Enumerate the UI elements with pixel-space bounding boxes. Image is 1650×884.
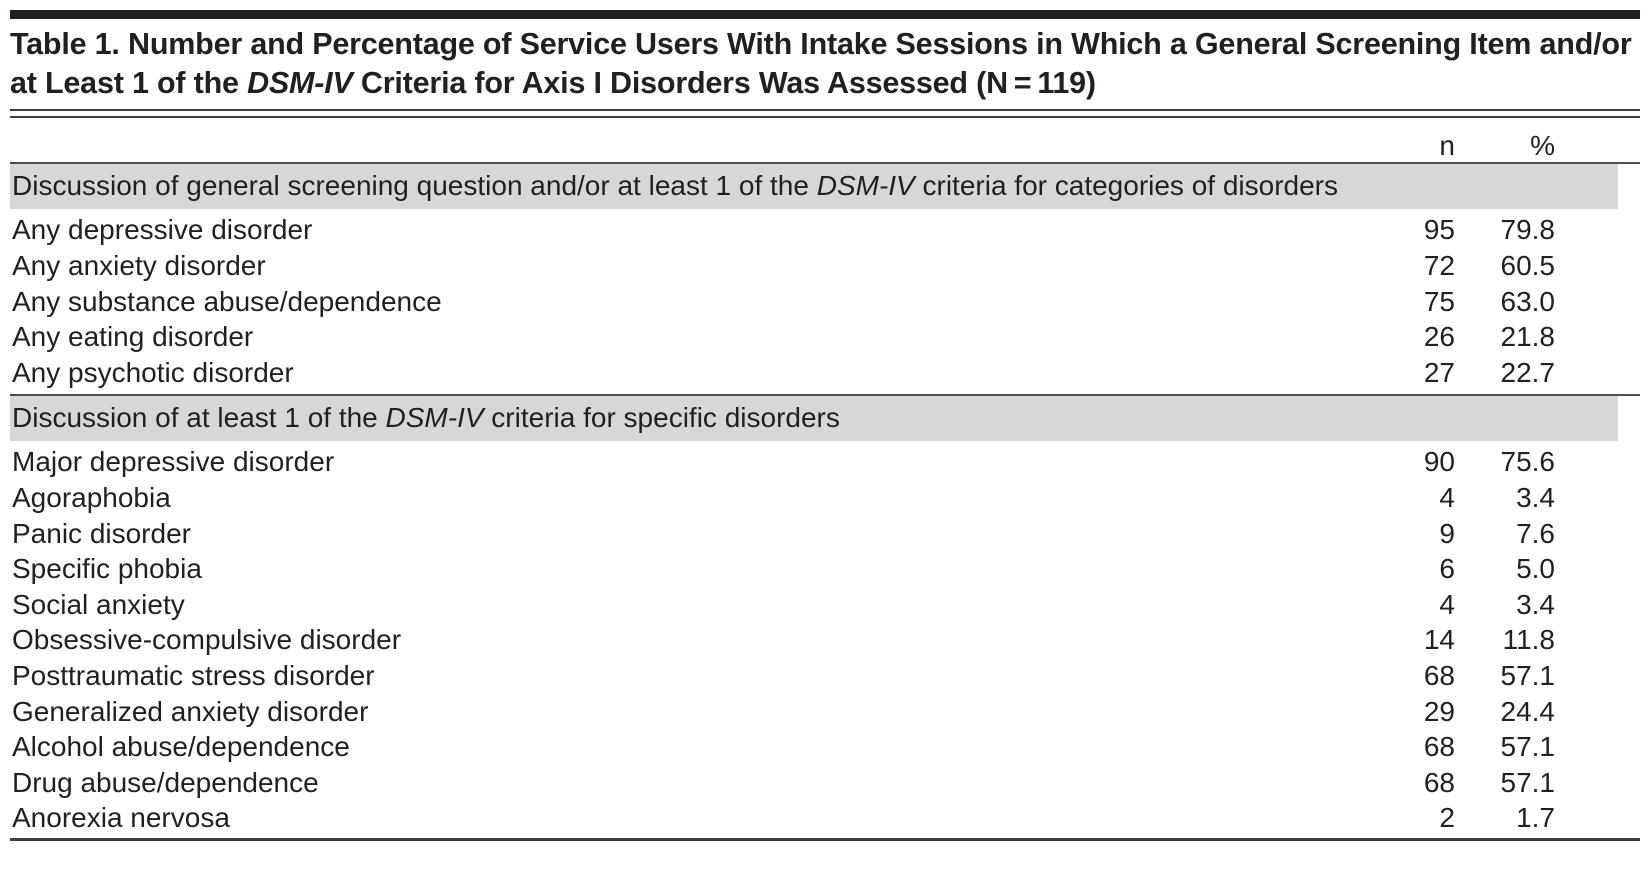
table-caption: Table 1. Number and Percentage of Servic… [10,19,1640,107]
table-caption-rule [10,109,1640,118]
row-n: 4 [1337,587,1455,623]
table-top-rule [10,10,1640,19]
row-n: 75 [1337,284,1455,320]
table-row: Drug abuse/dependence 68 57.1 [10,765,1640,801]
table-row: Any substance abuse/dependence 75 63.0 [10,284,1640,320]
row-n: 4 [1337,480,1455,516]
row-label: Anorexia nervosa [10,800,1337,836]
row-percent: 1.7 [1455,800,1555,836]
row-n: 26 [1337,319,1455,355]
table-row: Specific phobia 6 5.0 [10,551,1640,587]
table-row: Any psychotic disorder 27 22.7 [10,355,1640,391]
table-row: Posttraumatic stress disorder 68 57.1 [10,658,1640,694]
table-row: Major depressive disorder 90 75.6 [10,444,1640,480]
row-n: 68 [1337,765,1455,801]
row-label: Drug abuse/dependence [10,765,1337,801]
row-percent: 57.1 [1455,765,1555,801]
row-label: Major depressive disorder [10,444,1337,480]
row-percent: 57.1 [1455,729,1555,765]
section-1-dsm-italic: DSM-IV [817,170,915,201]
row-percent: 3.4 [1455,480,1555,516]
row-percent: 24.4 [1455,694,1555,730]
row-label: Obsessive-compulsive disorder [10,622,1337,658]
table-row: Agoraphobia 4 3.4 [10,480,1640,516]
row-label: Any eating disorder [10,319,1337,355]
section-1-text-a: Discussion of general screening question… [12,170,817,201]
row-label: Social anxiety [10,587,1337,623]
row-percent: 5.0 [1455,551,1555,587]
column-header-percent: % [1455,130,1555,162]
row-n: 14 [1337,622,1455,658]
table-row: Generalized anxiety disorder 29 24.4 [10,694,1640,730]
row-percent: 60.5 [1455,248,1555,284]
table-caption-dsm-italic: DSM-IV [247,66,353,100]
table-1: Table 1. Number and Percentage of Servic… [0,10,1650,841]
row-n: 72 [1337,248,1455,284]
table-row: Panic disorder 9 7.6 [10,516,1640,552]
table-caption-text-b: Criteria for Axis I Disorders Was Assess… [353,66,1096,100]
section-2-text-b: criteria for specific disorders [484,402,840,433]
table-bottom-rule [10,838,1640,841]
row-label: Any depressive disorder [10,212,1337,248]
table-row: Any depressive disorder 95 79.8 [10,212,1640,248]
table-row: Any anxiety disorder 72 60.5 [10,248,1640,284]
section-header-categories: Discussion of general screening question… [10,164,1618,209]
table-column-header-row: n % [10,118,1640,162]
row-percent: 63.0 [1455,284,1555,320]
row-n: 27 [1337,355,1455,391]
row-n: 90 [1337,444,1455,480]
section-1-text-b: criteria for categories of disorders [915,170,1338,201]
row-n: 68 [1337,658,1455,694]
row-n: 6 [1337,551,1455,587]
row-label: Posttraumatic stress disorder [10,658,1337,694]
row-label: Any substance abuse/dependence [10,284,1337,320]
table-row: Social anxiety 4 3.4 [10,587,1640,623]
table-row: Obsessive-compulsive disorder 14 11.8 [10,622,1640,658]
table-row: Alcohol abuse/dependence 68 57.1 [10,729,1640,765]
row-label: Any anxiety disorder [10,248,1337,284]
section-header-specific: Discussion of at least 1 of the DSM-IV c… [10,396,1618,441]
row-n: 9 [1337,516,1455,552]
row-percent: 21.8 [1455,319,1555,355]
table-caption-number: Table 1. [10,27,120,61]
section-2-dsm-italic: DSM-IV [386,402,484,433]
row-percent: 11.8 [1455,622,1555,658]
section-2-rows: Major depressive disorder 90 75.6 Agorap… [10,441,1640,836]
section-1-rows: Any depressive disorder 95 79.8 Any anxi… [10,209,1640,390]
row-percent: 79.8 [1455,212,1555,248]
row-label: Panic disorder [10,516,1337,552]
row-n: 95 [1337,212,1455,248]
row-percent: 22.7 [1455,355,1555,391]
row-percent: 57.1 [1455,658,1555,694]
row-percent: 7.6 [1455,516,1555,552]
table-row: Anorexia nervosa 2 1.7 [10,800,1640,836]
section-2-text-a: Discussion of at least 1 of the [12,402,386,433]
row-n: 29 [1337,694,1455,730]
column-header-n: n [1337,130,1455,162]
row-label: Generalized anxiety disorder [10,694,1337,730]
table-row: Any eating disorder 26 21.8 [10,319,1640,355]
row-n: 2 [1337,800,1455,836]
row-label: Agoraphobia [10,480,1337,516]
row-label: Specific phobia [10,551,1337,587]
row-label: Alcohol abuse/dependence [10,729,1337,765]
row-percent: 75.6 [1455,444,1555,480]
row-label: Any psychotic disorder [10,355,1337,391]
row-n: 68 [1337,729,1455,765]
row-percent: 3.4 [1455,587,1555,623]
